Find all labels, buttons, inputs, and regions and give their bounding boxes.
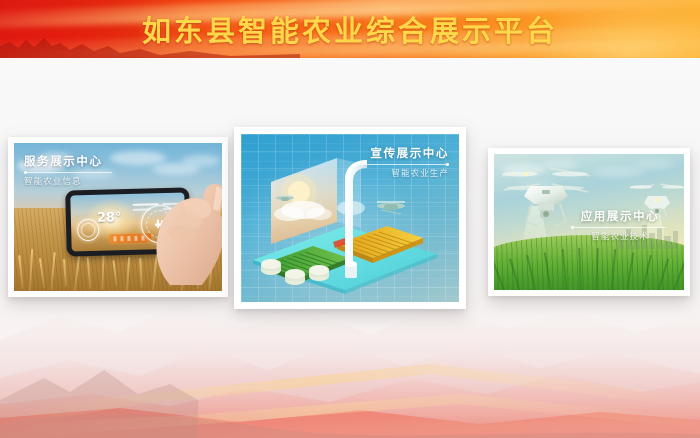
cloud [110,151,166,165]
cloud [182,155,220,166]
card-promotion-divider [359,164,449,165]
card-application-subtitle: 智能农业技术 [574,230,666,242]
card-promotion-subtitle: 智能农业生产 [359,167,449,179]
card-application-image: 应用展示中心 智能农业技术 [494,154,684,290]
card-application-text-block: 应用展示中心 智能农业技术 [574,208,666,242]
card-service-title: 服务展示中心 [24,153,112,169]
card-service-image: 28° [14,143,222,291]
card-service-subtitle: 智能农业信息 [24,175,112,187]
card-application-divider [574,227,666,228]
page-title: 如东县智能农业综合展示平台 [0,0,700,58]
card-service-divider [24,172,112,173]
card-promotion-title: 宣传展示中心 [359,145,449,161]
card-promotion-display-center[interactable]: 宣传展示中心 智能农业生产 [234,127,466,309]
hand-holding-phone [140,167,222,285]
card-service-text-block: 服务展示中心 智能农业信息 [24,153,112,187]
card-service-display-center[interactable]: 28° [8,137,228,297]
card-application-display-center[interactable]: 应用展示中心 智能农业技术 [488,148,690,296]
card-promotion-image: 宣传展示中心 智能农业生产 [241,134,459,302]
card-application-title: 应用展示中心 [574,208,666,224]
card-promotion-text-block: 宣传展示中心 智能农业生产 [359,145,449,179]
hud-temperature: 28° [97,210,122,226]
platform-landing-page: 如东县智能农业综合展示平台 [0,0,700,438]
page-header-banner: 如东县智能农业综合展示平台 [0,0,700,58]
